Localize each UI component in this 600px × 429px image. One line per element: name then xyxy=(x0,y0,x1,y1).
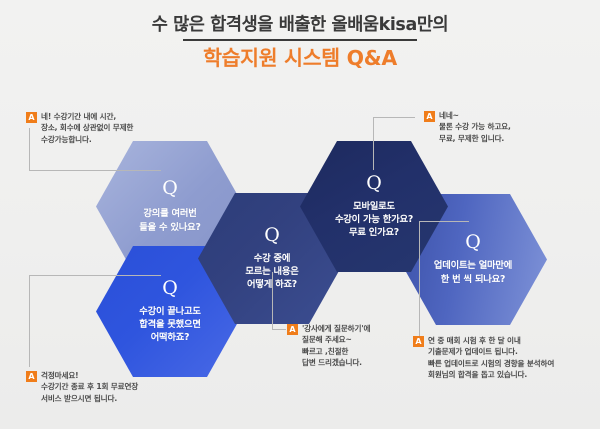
hexagon-question-lectures: 강의를 여러번 들을 수 있나요? xyxy=(139,207,200,233)
connector-during-horizontal xyxy=(272,329,286,330)
answer-during: A '강사에게 질문하기'에 질문해 주세요~ 빠르고 ,친절한 답변 드리겠습… xyxy=(287,323,412,368)
answer-text-during: '강사에게 질문하기'에 질문해 주세요~ 빠르고 ,친절한 답변 드리겠습니다… xyxy=(302,323,370,368)
answer-text-fail: 걱정마세요! 수강기간 종료 후 1회 무료연장 서비스 받으시면 됩니다. xyxy=(41,370,138,404)
connector-mobile-horizontal xyxy=(373,117,415,118)
infographic-canvas: 수 많은 합격생을 배출한 올배움kisa만의 학습지원 시스템 Q&A Q 강… xyxy=(0,0,600,429)
connector-during-vertical xyxy=(272,272,273,329)
answer-badge-icon: A xyxy=(424,111,435,122)
answer-lectures: A 네! 수강기간 내에 시간, 장소, 회수에 상관없이 무제한 수강가능합니… xyxy=(26,111,196,145)
hexagon-question-mobile: 모바일로도 수강이 가능 한가요? 무료 인가요? xyxy=(335,200,413,240)
answer-badge-icon: A xyxy=(413,336,424,347)
answer-badge-icon: A xyxy=(26,371,37,382)
connector-update-vertical xyxy=(419,221,420,340)
question-marker-icon: Q xyxy=(162,279,178,298)
answer-update: A 연 중 매회 시험 후 한 달 이내 기출문제가 업데이트 됩니다. 빠른 … xyxy=(413,335,593,380)
answer-badge-icon: A xyxy=(26,112,37,123)
connector-mobile-vertical xyxy=(373,117,374,170)
hexagon-question-update: 업데이트는 얼마만에 한 번 씩 되나요? xyxy=(434,259,512,285)
answer-text-update: 연 중 매회 시험 후 한 달 이내 기출문제가 업데이트 됩니다. 빠른 업데… xyxy=(428,335,554,380)
question-marker-icon: Q xyxy=(162,179,178,198)
answer-text-lectures: 네! 수강기간 내에 시간, 장소, 회수에 상관없이 무제한 수강가능합니다. xyxy=(41,111,133,145)
question-marker-icon: Q xyxy=(366,174,382,193)
answer-badge-icon: A xyxy=(287,324,298,335)
connector-update-horizontal xyxy=(419,221,469,222)
answer-fail: A 걱정마세요! 수강기간 종료 후 1회 무료연장 서비스 받으시면 됩니다. xyxy=(26,370,201,404)
connector-lectures-horizontal xyxy=(29,170,161,171)
hexagon-question-fail: 수강이 끝나고도 합격을 못했으면 어떡하죠? xyxy=(139,305,201,345)
question-marker-icon: Q xyxy=(264,226,280,245)
question-marker-icon: Q xyxy=(465,233,481,252)
connector-fail-vertical xyxy=(29,275,30,367)
answer-text-mobile: 네네~ 물론 수강 가능 하고요, 무료, 무제한 입니다. xyxy=(439,110,511,144)
answer-mobile: A 네네~ 물론 수강 가능 하고요, 무료, 무제한 입니다. xyxy=(424,110,584,144)
connector-fail-horizontal xyxy=(29,275,161,276)
